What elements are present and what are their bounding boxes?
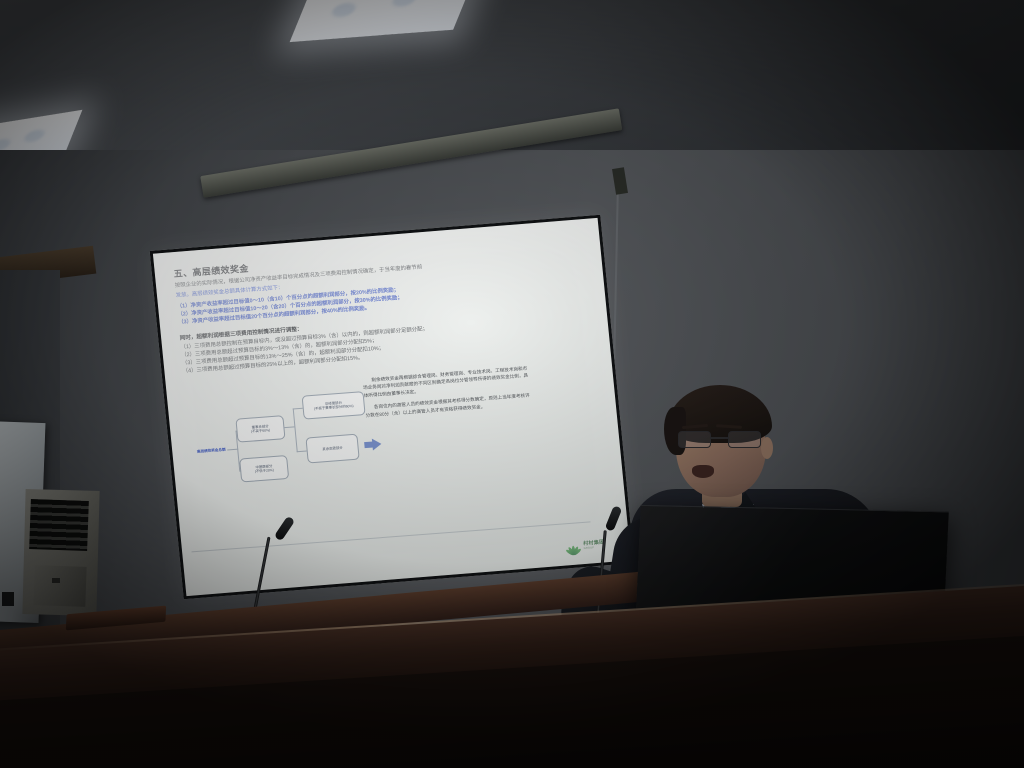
flowchart-box-2-sub: (不低于20%): [255, 468, 275, 474]
projection-screen-surface: 五、高层绩效奖金 按照企业的实际情况，根据公司净资产收益率目标完成情况及三项费用…: [150, 215, 635, 600]
flowchart-root-label: 高层绩效奖金总额: [195, 438, 227, 464]
flowchart-box-2: 中基层部分 (不低于20%): [239, 455, 289, 482]
glasses-icon: [678, 431, 764, 448]
slide-divider: [191, 521, 590, 552]
flowchart-box-1-sub: (不高于60%): [251, 428, 271, 434]
flowchart-box-1: 董事长部分 (不高于60%): [235, 415, 285, 442]
flowchart-box-4: 其余高管部分: [305, 434, 359, 464]
air-conditioner-indicator: [52, 578, 60, 583]
flowchart-arrow-icon: [372, 438, 382, 451]
slide-right-text: 剩余绩效奖金再根据综合管理岗、财务管理岗、专业技术岗、工程技术岗和市场业务岗对净…: [362, 365, 532, 424]
conference-room-scene: 五、高层绩效奖金 按照企业的实际情况，根据公司净资产收益率目标完成情况及三项费用…: [0, 0, 1024, 768]
flowchart-box-3: 总经理部分 (不高于董事长部分的60%): [302, 391, 366, 420]
presenter-mouth: [692, 465, 714, 478]
company-logo: 村村集团 GROUP: [563, 536, 606, 556]
flowchart-box-3-sub: (不高于董事长部分的60%): [314, 404, 354, 411]
company-logo-leaf-icon: [563, 538, 582, 556]
air-conditioner-panel: [33, 565, 86, 607]
wall-outlet: [2, 592, 14, 606]
projection-screen: 五、高层绩效奖金 按照企业的实际情况，根据公司净资产收益率目标完成情况及三项费用…: [156, 176, 628, 596]
flowchart-box-4-label: 其余高管部分: [322, 446, 343, 452]
air-conditioner-vent-grille: [29, 499, 89, 551]
slide-content: 五、高层绩效奖金 按照企业的实际情况，根据公司净资产收益率目标完成情况及三项费用…: [154, 219, 631, 595]
